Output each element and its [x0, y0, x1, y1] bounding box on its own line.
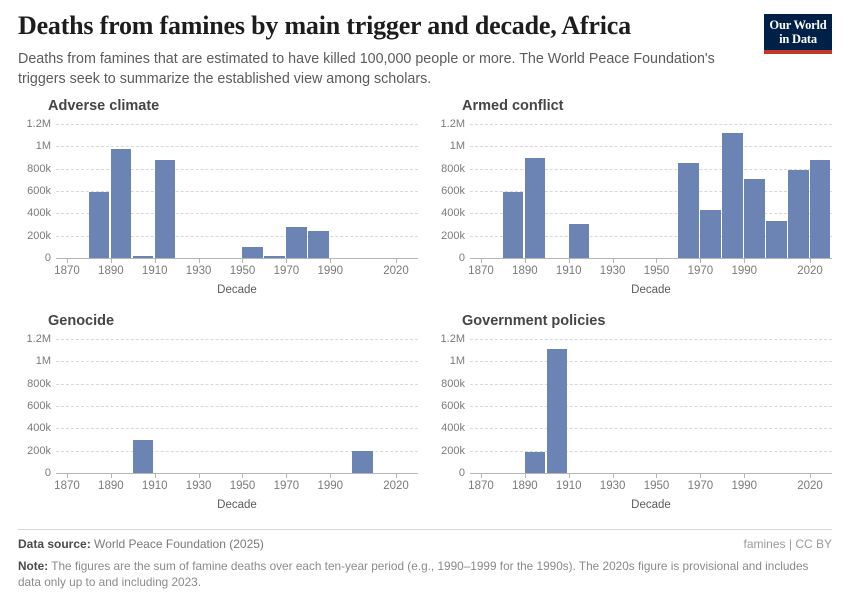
bar[interactable]: [89, 192, 109, 258]
x-axis-tick: [744, 258, 745, 263]
x-axis-tick-label: 1950: [644, 265, 670, 277]
y-axis-tick-label: 0: [432, 252, 465, 264]
x-axis-tick-label: 2020: [383, 265, 409, 277]
chart-page: Deaths from famines by main trigger and …: [0, 0, 850, 600]
bar[interactable]: [700, 210, 720, 258]
x-axis-tick-label: 1890: [512, 480, 538, 492]
data-source-label: Data source:: [18, 537, 91, 551]
license-label[interactable]: famines | CC BY: [744, 537, 832, 551]
gridline-y: [56, 339, 418, 340]
bar[interactable]: [810, 160, 830, 258]
bar[interactable]: [722, 133, 742, 258]
y-axis-tick-label: 400k: [18, 422, 51, 434]
y-axis-tick-label: 1.2M: [432, 333, 465, 345]
x-axis-tick: [242, 473, 243, 478]
gridline-y: [470, 124, 832, 125]
x-axis-tick: [656, 473, 657, 478]
gridline-y: [470, 428, 832, 429]
x-axis-tick-label: 1930: [600, 265, 626, 277]
x-axis-tick: [656, 258, 657, 263]
bar[interactable]: [352, 451, 372, 473]
x-axis-tick-label: 1990: [317, 265, 343, 277]
x-axis-tick-label: 2020: [797, 265, 823, 277]
bar[interactable]: [155, 160, 175, 258]
x-axis-tick-label: 1970: [688, 265, 714, 277]
x-axis-tick-label: 1930: [600, 480, 626, 492]
x-axis-tick-label: 1870: [468, 265, 494, 277]
chart-subtitle: Deaths from famines that are estimated t…: [18, 50, 748, 89]
bar[interactable]: [133, 256, 153, 258]
x-axis-tick-label: 1910: [556, 265, 582, 277]
gridline-y: [470, 361, 832, 362]
chart-note: Note: The figures are the sum of famine …: [18, 559, 818, 590]
x-axis-tick-label: 1890: [98, 265, 124, 277]
x-axis-tick: [330, 258, 331, 263]
chart-panel-adverse-climate: Adverse climate0200k400k600k800k1M1.2M18…: [18, 98, 418, 308]
x-axis-tick-label: 1930: [186, 265, 212, 277]
x-axis-tick-label: 1870: [54, 265, 80, 277]
y-axis-tick-label: 200k: [432, 230, 465, 242]
y-axis-tick-label: 200k: [18, 230, 51, 242]
x-axis-tick: [481, 258, 482, 263]
x-axis-tick-label: 2020: [797, 480, 823, 492]
x-axis-tick: [810, 473, 811, 478]
x-axis-tick: [67, 258, 68, 263]
x-axis-tick: [613, 473, 614, 478]
x-axis-tick: [481, 473, 482, 478]
x-axis-tick: [569, 473, 570, 478]
bar[interactable]: [133, 440, 153, 474]
gridline-y: [470, 339, 832, 340]
y-axis-tick-label: 800k: [432, 163, 465, 175]
x-axis-tick: [111, 258, 112, 263]
y-axis-tick-label: 800k: [432, 378, 465, 390]
x-axis-tick-label: 1910: [556, 480, 582, 492]
x-axis-tick-label: 1970: [274, 480, 300, 492]
x-axis-tick-label: 1890: [98, 480, 124, 492]
y-axis-tick-label: 1.2M: [18, 118, 51, 130]
y-axis-tick-label: 1.2M: [432, 118, 465, 130]
bar[interactable]: [525, 452, 545, 473]
gridline-y: [470, 406, 832, 407]
x-axis-tick-label: 1970: [274, 265, 300, 277]
x-axis-tick: [199, 258, 200, 263]
bar[interactable]: [111, 149, 131, 258]
x-axis-tick: [700, 258, 701, 263]
x-axis-tick-label: 1990: [731, 480, 757, 492]
x-axis-tick: [396, 473, 397, 478]
gridline-y: [470, 146, 832, 147]
plot-area: 0200k400k600k800k1M1.2M18701890191019301…: [432, 313, 832, 523]
x-axis-tick: [613, 258, 614, 263]
x-axis-tick: [396, 258, 397, 263]
y-axis-tick-label: 0: [18, 252, 51, 264]
chart-panel-genocide: Genocide0200k400k600k800k1M1.2M187018901…: [18, 313, 418, 523]
x-axis-tick: [286, 473, 287, 478]
gridline-y: [56, 146, 418, 147]
x-axis-tick: [330, 473, 331, 478]
bar[interactable]: [264, 256, 284, 258]
x-axis-title: Decade: [470, 499, 832, 511]
x-axis-tick: [744, 473, 745, 478]
y-axis-tick-label: 400k: [432, 422, 465, 434]
y-axis-tick-label: 600k: [18, 400, 51, 412]
owid-logo-line1: Our World: [764, 18, 832, 32]
x-axis-tick-label: 1990: [731, 265, 757, 277]
x-axis-tick-label: 1870: [468, 480, 494, 492]
plot-area: 0200k400k600k800k1M1.2M18701890191019301…: [18, 98, 418, 308]
chart-panel-grid: Adverse climate0200k400k600k800k1M1.2M18…: [18, 98, 832, 523]
gridline-y: [56, 428, 418, 429]
x-axis-tick: [525, 258, 526, 263]
chart-panel-government-policies: Government policies0200k400k600k800k1M1.…: [432, 313, 832, 523]
plot-area: 0200k400k600k800k1M1.2M18701890191019301…: [432, 98, 832, 308]
y-axis-tick-label: 800k: [18, 163, 51, 175]
chart-footer: Data source: World Peace Foundation (202…: [18, 529, 832, 590]
x-axis-title: Decade: [470, 284, 832, 296]
y-axis-tick-label: 400k: [18, 207, 51, 219]
chart-note-text: The figures are the sum of famine deaths…: [18, 559, 808, 589]
y-axis-tick-label: 600k: [432, 400, 465, 412]
bar[interactable]: [503, 192, 523, 258]
bar[interactable]: [286, 227, 306, 258]
gridline-y: [56, 124, 418, 125]
x-axis-tick: [111, 473, 112, 478]
x-axis-tick-label: 1970: [688, 480, 714, 492]
bar[interactable]: [525, 158, 545, 258]
gridline-y: [470, 384, 832, 385]
y-axis-tick-label: 0: [432, 467, 465, 479]
bar[interactable]: [788, 170, 808, 258]
x-axis-tick: [155, 473, 156, 478]
x-axis-tick: [810, 258, 811, 263]
x-axis-tick-label: 1950: [230, 480, 256, 492]
bar[interactable]: [678, 163, 698, 258]
owid-logo[interactable]: Our World in Data: [764, 14, 832, 54]
x-axis-tick-label: 1910: [142, 480, 168, 492]
data-source: Data source: World Peace Foundation (202…: [18, 537, 264, 551]
footer-divider: [18, 529, 832, 530]
x-axis-tick-label: 1950: [644, 480, 670, 492]
x-axis-tick: [155, 258, 156, 263]
owid-logo-line2: in Data: [764, 32, 832, 46]
y-axis-tick-label: 600k: [432, 185, 465, 197]
chart-note-label: Note:: [18, 559, 48, 573]
x-axis-tick: [199, 473, 200, 478]
bar[interactable]: [547, 349, 567, 473]
y-axis-tick-label: 200k: [432, 445, 465, 457]
x-axis-tick: [569, 258, 570, 263]
gridline-y: [56, 384, 418, 385]
x-axis-tick-label: 1990: [317, 480, 343, 492]
x-axis-tick: [242, 258, 243, 263]
bar[interactable]: [766, 221, 786, 258]
y-axis-tick-label: 400k: [432, 207, 465, 219]
x-axis-title: Decade: [56, 499, 418, 511]
x-axis-tick: [525, 473, 526, 478]
plot-area: 0200k400k600k800k1M1.2M18701890191019301…: [18, 313, 418, 523]
x-axis-tick-label: 1890: [512, 265, 538, 277]
x-axis-tick: [286, 258, 287, 263]
y-axis-tick-label: 1M: [18, 355, 51, 367]
y-axis-tick-label: 800k: [18, 378, 51, 390]
x-axis-tick-label: 1910: [142, 265, 168, 277]
x-axis-tick-label: 1870: [54, 480, 80, 492]
x-axis-tick: [67, 473, 68, 478]
x-axis-tick-label: 1950: [230, 265, 256, 277]
gridline-y: [56, 361, 418, 362]
y-axis-tick-label: 1M: [432, 140, 465, 152]
x-axis-tick: [700, 473, 701, 478]
bar[interactable]: [242, 247, 262, 258]
bar[interactable]: [744, 179, 764, 258]
page-title: Deaths from famines by main trigger and …: [18, 10, 758, 42]
x-axis-title: Decade: [56, 284, 418, 296]
chart-header: Deaths from famines by main trigger and …: [18, 10, 832, 89]
y-axis-tick-label: 1M: [18, 140, 51, 152]
gridline-y: [56, 406, 418, 407]
chart-panel-armed-conflict: Armed conflict0200k400k600k800k1M1.2M187…: [432, 98, 832, 308]
y-axis-tick-label: 200k: [18, 445, 51, 457]
x-axis-tick-label: 2020: [383, 480, 409, 492]
y-axis-tick-label: 600k: [18, 185, 51, 197]
y-axis-tick-label: 1.2M: [18, 333, 51, 345]
y-axis-tick-label: 1M: [432, 355, 465, 367]
y-axis-tick-label: 0: [18, 467, 51, 479]
bar[interactable]: [308, 231, 328, 258]
data-source-value: World Peace Foundation (2025): [94, 537, 264, 551]
bar[interactable]: [569, 224, 589, 258]
x-axis-tick-label: 1930: [186, 480, 212, 492]
